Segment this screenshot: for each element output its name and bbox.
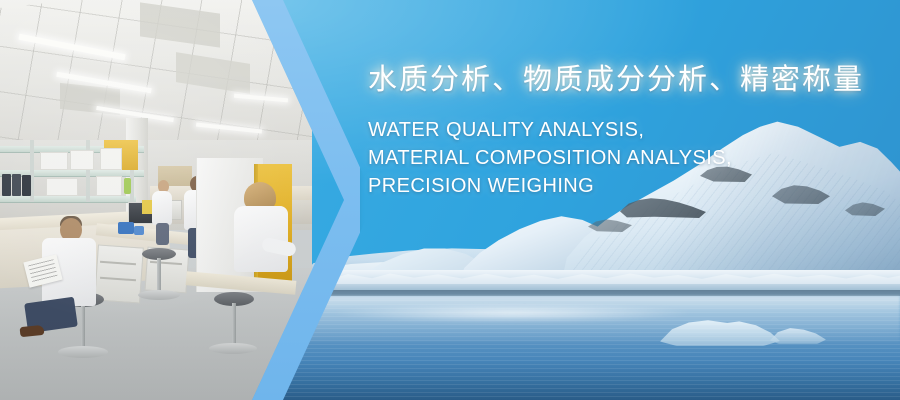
subtitle-line-2: MATERIAL COMPOSITION ANALYSIS, bbox=[368, 144, 888, 172]
photo-tone-overlay bbox=[0, 0, 312, 400]
headline-chinese: 水质分析、物质成分分析、精密称量 bbox=[368, 62, 888, 98]
subtitle-line-1: WATER QUALITY ANALYSIS, bbox=[368, 116, 888, 144]
subtitle-english: WATER QUALITY ANALYSIS, MATERIAL COMPOSI… bbox=[368, 116, 888, 200]
promo-banner: 水质分析、物质成分分析、精密称量 WATER QUALITY ANALYSIS,… bbox=[0, 0, 900, 400]
banner-copy: 水质分析、物质成分分析、精密称量 WATER QUALITY ANALYSIS,… bbox=[368, 62, 888, 200]
laboratory-photo bbox=[0, 0, 312, 400]
subtitle-line-3: PRECISION WEIGHING bbox=[368, 172, 888, 200]
lab-interior bbox=[0, 0, 312, 400]
